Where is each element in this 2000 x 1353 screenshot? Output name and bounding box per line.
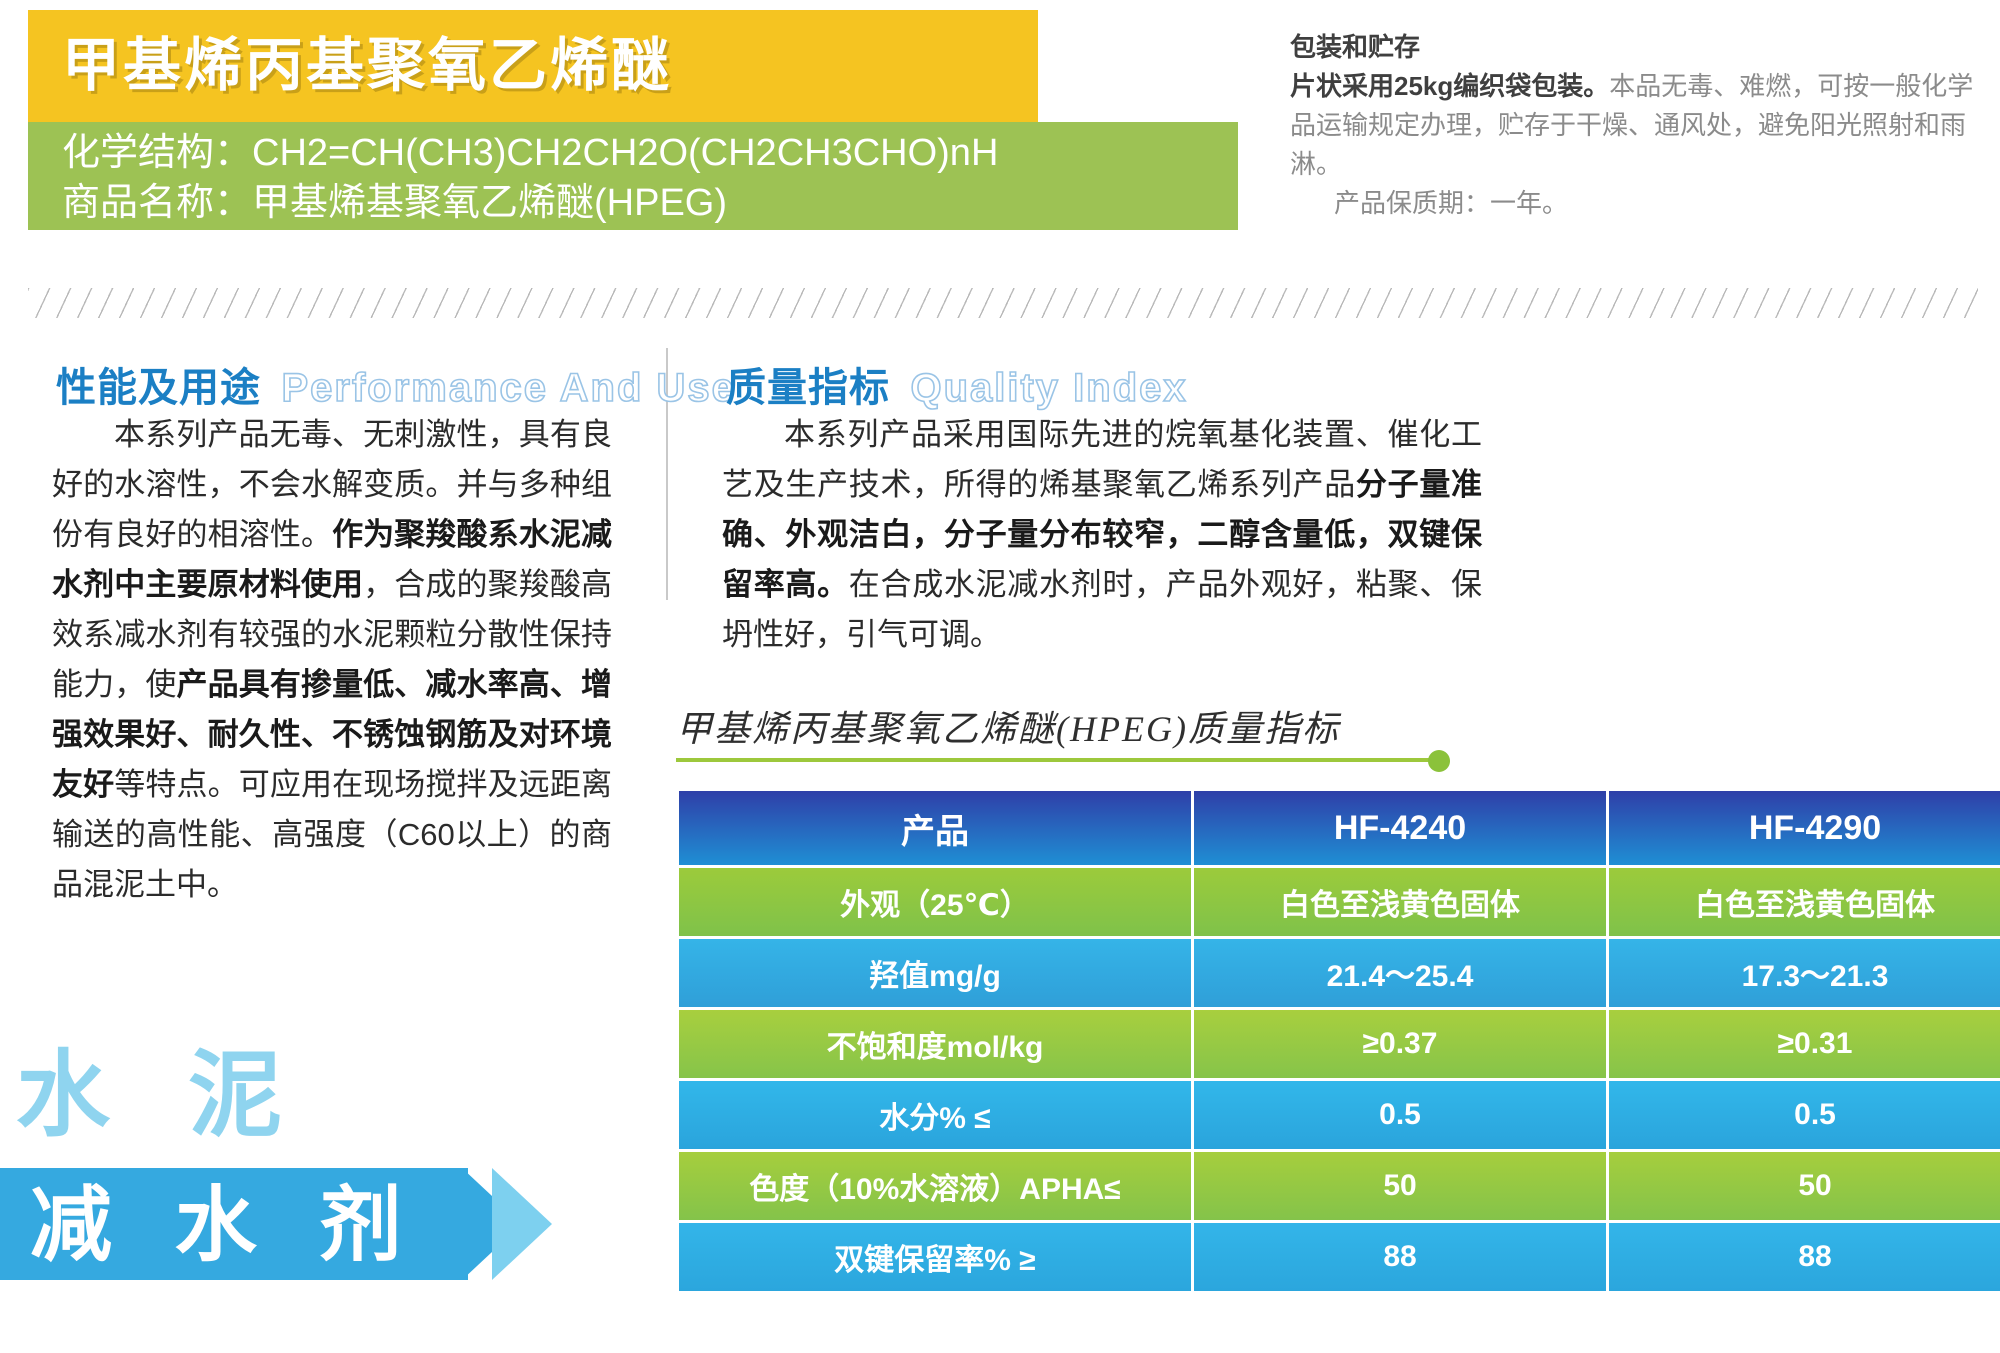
table-row-label: 双键保留率% ≥: [679, 1223, 1191, 1291]
table-row-value-hf4240: 50: [1194, 1152, 1606, 1220]
banner-line-2: 减 水 剂: [30, 1180, 422, 1272]
table-row-value-hf4240: 88: [1194, 1223, 1606, 1291]
table-row-value-hf4290: 88: [1609, 1223, 2000, 1291]
table-header-cell-2: HF-4290: [1609, 791, 2000, 865]
table-row-value-hf4240: 0.5: [1194, 1081, 1606, 1149]
table-row: 不饱和度mol/kg ≥0.37 ≥0.31: [679, 1010, 2000, 1078]
quality-body-text: 本系列产品采用国际先进的烷氧基化装置、催化工艺及生产技术，所得的烯基聚氧乙烯系列…: [722, 410, 1482, 660]
table-row-value-hf4290: 白色至浅黄色固体: [1609, 868, 2000, 936]
table-header-cell-1: HF-4240: [1194, 791, 1606, 865]
table-row-value-hf4290: 50: [1609, 1152, 2000, 1220]
table-row: 外观（25℃） 白色至浅黄色固体 白色至浅黄色固体: [679, 868, 2000, 936]
performance-body-text: 本系列产品无毒、无刺激性，具有良好的水溶性，不会水解变质。并与多种组份有良好的相…: [52, 410, 612, 910]
header-banner: 甲基烯丙基聚氧乙烯醚 化学结构：CH2=CH(CH3)CH2CH2O(CH2CH…: [0, 0, 2000, 290]
table-title: 甲基烯丙基聚氧乙烯醚(HPEG)质量指标: [676, 700, 1340, 752]
table-row-label: 不饱和度mol/kg: [679, 1010, 1191, 1078]
diagonal-hatch-divider: [28, 288, 1978, 318]
perf-text-plain-c: 等特点。可应用在现场搅拌及远距离输送的高性能、高强度（C60以上）的商品混泥土中…: [52, 767, 612, 902]
product-title: 甲基烯丙基聚氧乙烯醚: [62, 26, 1022, 106]
section-heading-performance: 性能及用途 Performance And Use: [56, 355, 736, 413]
table-row-label: 水分% ≤: [679, 1081, 1191, 1149]
table-row-label: 外观（25℃）: [679, 868, 1191, 936]
table-row-label: 色度（10%水溶液）APHA≤: [679, 1152, 1191, 1220]
table-row-value-hf4240: ≥0.37: [1194, 1010, 1606, 1078]
table-row-value-hf4290: ≥0.31: [1609, 1010, 2000, 1078]
section-title-en-quality: Quality Index: [910, 366, 1187, 411]
table-header-cell-0: 产品: [679, 791, 1191, 865]
packaging-heading: 包装和贮存: [1290, 28, 1980, 67]
table-row-value-hf4240: 白色至浅黄色固体: [1194, 868, 1606, 936]
table-row-value-hf4290: 0.5: [1609, 1081, 2000, 1149]
banner-chevron-light-icon: [492, 1168, 552, 1280]
section-title-cn-performance: 性能及用途: [56, 355, 261, 413]
table-row-value-hf4290: 17.3～21.3: [1609, 939, 2000, 1007]
section-title-en-performance: Performance And Use: [281, 366, 735, 411]
table-header-row: 产品 HF-4240 HF-4290: [679, 791, 2000, 865]
table-row-label: 羟值mg/g: [679, 939, 1191, 1007]
banner-line-1: 水 泥: [16, 1040, 308, 1150]
packaging-shelf-life: 产品保质期：一年。: [1290, 184, 1980, 223]
table-row: 双键保留率% ≥ 88 88: [679, 1223, 2000, 1291]
table-row: 色度（10%水溶液）APHA≤ 50 50: [679, 1152, 2000, 1220]
packaging-bold-lead: 片状采用25kg编织袋包装。: [1290, 71, 1609, 101]
table-title-dot-icon: [1428, 750, 1450, 772]
trade-name-line: 商品名称：甲基烯基聚氧乙烯醚(HPEG): [62, 180, 727, 226]
cement-water-reducer-banner: 水 泥 减 水 剂: [0, 1020, 560, 1353]
table-row: 水分% ≤ 0.5 0.5: [679, 1081, 2000, 1149]
table-title-rule: [676, 758, 1436, 762]
quality-index-table: 产品 HF-4240 HF-4290 外观（25℃） 白色至浅黄色固体 白色至浅…: [676, 788, 2000, 1294]
packaging-and-storage-block: 包装和贮存 片状采用25kg编织袋包装。本品无毒、难燃，可按一般化学品运输规定办…: [1290, 28, 1980, 223]
table-row-value-hf4240: 21.4～25.4: [1194, 939, 1606, 1007]
chemical-structure-line: 化学结构：CH2=CH(CH3)CH2CH2O(CH2CH3CHO)nH: [62, 130, 998, 176]
section-title-cn-quality: 质量指标: [726, 355, 890, 413]
table-row: 羟值mg/g 21.4～25.4 17.3～21.3: [679, 939, 2000, 1007]
section-heading-quality: 质量指标 Quality Index: [726, 355, 1188, 413]
